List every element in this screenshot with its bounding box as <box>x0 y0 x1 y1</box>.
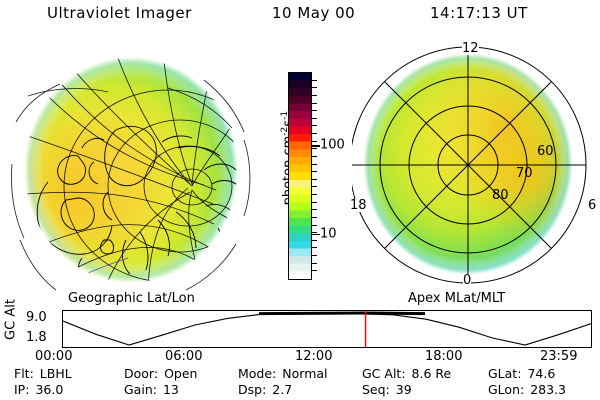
colorbar-major-tick-10 <box>311 234 320 236</box>
colorbar-gradient <box>289 73 311 279</box>
colorbar-minor-tick <box>311 118 317 119</box>
status-key: Gain: <box>124 382 157 397</box>
status-key: GC Alt: <box>362 366 406 381</box>
polar-aurora-image <box>352 42 600 294</box>
polar-panel-caption: Apex MLat/MLT <box>408 291 505 306</box>
colorbar-tick-label-100: 100 <box>320 139 345 152</box>
colorbar-minor-tick <box>311 209 317 210</box>
status-key: GLon: <box>488 382 524 397</box>
orbit-y-axis-label: GC Alt <box>4 293 19 347</box>
colorbar-minor-tick <box>311 141 317 142</box>
status-value: Normal <box>282 366 327 381</box>
mlat-label-70: 70 <box>516 167 533 180</box>
colorbar-minor-tick <box>311 110 317 111</box>
status-value: 74.6 <box>527 366 555 381</box>
status-value: 2.7 <box>272 382 292 397</box>
mlat-label-80: 80 <box>492 189 509 202</box>
observation-date: 10 May 00 <box>272 4 355 22</box>
colorbar-minor-tick <box>311 225 317 226</box>
geographic-panel-caption: Geographic Lat/Lon <box>68 291 195 306</box>
colorbar-major-tick-100 <box>311 145 320 147</box>
colorbar-minor-tick <box>311 125 317 126</box>
orbit-xtick-2: 12:00 <box>295 350 332 363</box>
status-key: GLat: <box>488 366 521 381</box>
status-value: 283.3 <box>530 382 566 397</box>
colorbar-minor-tick <box>311 263 317 264</box>
status-field-glat: GLat:74.6 <box>488 366 555 381</box>
instrument-title: Ultraviolet Imager <box>47 4 192 22</box>
status-field-dsp: Dsp:2.7 <box>238 382 292 397</box>
observation-time: 14:17:13 UT <box>430 4 528 22</box>
status-value: 13 <box>163 382 179 397</box>
mlt-label-6: 6 <box>588 199 596 212</box>
status-value: LBHL <box>40 366 72 381</box>
colorbar-minor-tick <box>311 103 317 104</box>
status-row-1: Flt:LBHLDoor:OpenMode:NormalGC Alt:8.6 R… <box>0 366 600 382</box>
colorbar-minor-tick <box>311 95 317 96</box>
status-key: IP: <box>14 382 29 397</box>
mlt-label-0: 0 <box>463 274 471 287</box>
status-row-2: IP:36.0Gain:13Dsp:2.7Seq:39GLon:283.3 <box>0 382 600 398</box>
status-panel: Flt:LBHLDoor:OpenMode:NormalGC Alt:8.6 R… <box>0 366 600 400</box>
colorbar-minor-tick <box>311 247 317 248</box>
status-key: Seq: <box>362 382 390 397</box>
orbit-altitude-path <box>63 313 591 345</box>
status-value: 39 <box>396 382 412 397</box>
colorbar-minor-tick <box>311 133 317 134</box>
colorbar-minor-tick <box>311 87 317 88</box>
polar-image-panel[interactable]: 12 6 0 18 60 70 80 <box>352 42 600 294</box>
colorbar-minor-tick <box>311 217 317 218</box>
status-key: Dsp: <box>238 382 266 397</box>
colorbar: photon cm-2s-1 10010 <box>262 60 352 300</box>
colorbar-minor-tick <box>311 171 317 172</box>
status-field-gain: Gain:13 <box>124 382 179 397</box>
mlat-label-60: 60 <box>537 145 554 158</box>
mlt-label-18: 18 <box>350 199 367 212</box>
status-field-glon: GLon:283.3 <box>488 382 566 397</box>
status-key: Mode: <box>238 366 276 381</box>
colorbar-minor-tick <box>311 164 317 165</box>
colorbar-minor-tick <box>311 156 317 157</box>
status-value: Open <box>164 366 197 381</box>
status-value: 36.0 <box>35 382 63 397</box>
orbit-plot-box <box>62 310 592 348</box>
colorbar-minor-tick <box>311 270 317 271</box>
status-field-door: Door:Open <box>124 366 197 381</box>
orbit-xtick-1: 06:00 <box>165 350 202 363</box>
orbit-ytick-max: 9.0 <box>26 311 47 324</box>
colorbar-minor-tick <box>311 240 317 241</box>
status-field-mode: Mode:Normal <box>238 366 328 381</box>
colorbar-minor-tick <box>311 255 317 256</box>
status-key: Door: <box>124 366 158 381</box>
geographic-image-panel[interactable] <box>8 44 258 294</box>
colorbar-gradient-box <box>288 72 312 280</box>
colorbar-minor-tick <box>311 80 317 81</box>
geographic-aurora-image <box>8 44 258 294</box>
colorbar-minor-tick <box>311 194 317 195</box>
colorbar-minor-tick <box>311 148 317 149</box>
colorbar-tick-label-10: 10 <box>320 227 337 240</box>
status-field-gc-alt: GC Alt:8.6 Re <box>362 366 451 381</box>
orbit-track-panel[interactable]: GC Alt 9.0 1.8 00:00 06:00 12:00 18:00 2… <box>0 306 600 364</box>
mlt-label-12: 12 <box>462 42 479 55</box>
status-field-flt: Flt:LBHL <box>14 366 72 381</box>
orbit-xtick-0: 00:00 <box>35 350 72 363</box>
colorbar-minor-tick <box>311 202 317 203</box>
orbit-xtick-3: 18:00 <box>425 350 462 363</box>
header-bar: Ultraviolet Imager 10 May 00 14:17:13 UT <box>0 4 600 30</box>
colorbar-minor-tick <box>311 179 317 180</box>
status-field-ip: IP:36.0 <box>14 382 63 397</box>
orbit-ytick-min: 1.8 <box>26 331 47 344</box>
orbit-altitude-curve <box>63 311 591 347</box>
orbit-xtick-4: 23:59 <box>540 350 577 363</box>
colorbar-minor-tick <box>311 186 317 187</box>
status-value: 8.6 Re <box>412 366 452 381</box>
status-key: Flt: <box>14 366 34 381</box>
orbit-apogee-segment <box>259 313 425 314</box>
status-field-seq: Seq:39 <box>362 382 412 397</box>
